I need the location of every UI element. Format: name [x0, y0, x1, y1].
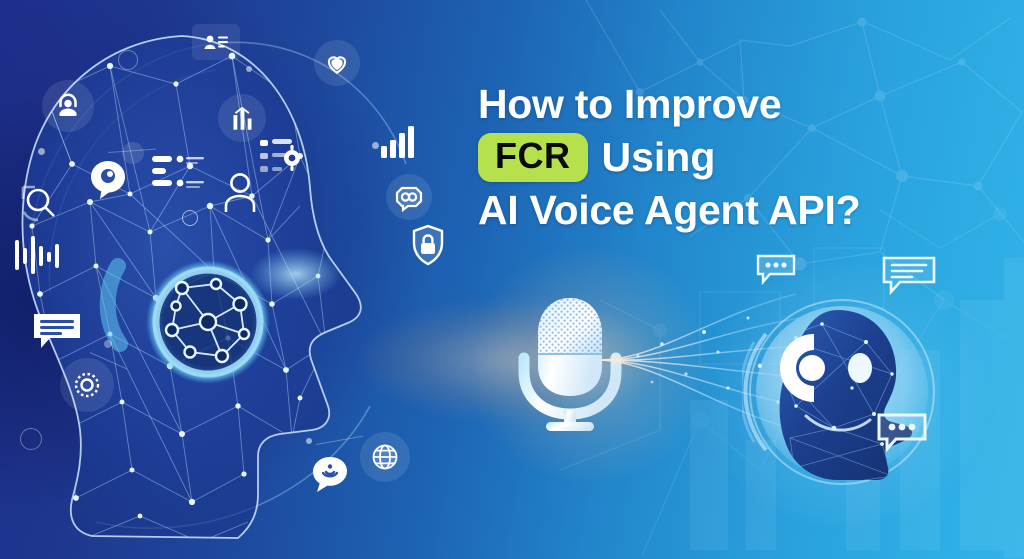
brain-network-node-circle	[146, 260, 270, 384]
headline-block: How to Improve FCR Using AI Voice Agent …	[478, 78, 998, 237]
chat-signal-icon	[308, 454, 352, 496]
gear-icon	[60, 358, 114, 412]
headline-line-1: How to Improve	[478, 78, 998, 131]
connector-dot	[122, 142, 144, 164]
workflow-settings-icon	[256, 136, 304, 180]
heart-shield-icon	[314, 40, 360, 86]
chat-dots-icon-large	[874, 410, 930, 458]
fcr-badge: FCR	[478, 133, 588, 182]
chat-location-icon	[86, 158, 130, 202]
growth-chart-icon	[218, 94, 266, 142]
waveform-bars-icon	[12, 234, 64, 278]
headline-line-3: AI Voice Agent API?	[478, 184, 998, 237]
connector-dot	[38, 148, 45, 155]
ai-robot-head-icon	[742, 288, 942, 488]
chat-lines-icon-right	[880, 254, 938, 300]
search-icon	[14, 178, 62, 226]
decorative-ring	[20, 428, 42, 450]
headline-line-2-text: Using	[602, 131, 716, 184]
infinity-chat-icon	[386, 174, 432, 220]
support-agent-icon	[42, 80, 94, 132]
shield-lock-icon	[406, 222, 450, 270]
id-card-icon	[192, 24, 240, 60]
decorative-ring	[118, 50, 138, 70]
connector-dot	[306, 438, 312, 444]
decorative-ring	[182, 210, 198, 226]
chat-dots-icon-small	[754, 252, 798, 288]
bar-chart-icon	[378, 122, 420, 162]
connector-dot	[104, 340, 112, 348]
user-profile-icon	[220, 170, 260, 214]
connector-dot	[246, 66, 252, 72]
connector-dot	[372, 142, 379, 149]
banner-root: How to Improve FCR Using AI Voice Agent …	[0, 0, 1024, 559]
headline-line-2: FCR Using	[478, 131, 998, 184]
task-list-icon	[150, 150, 208, 196]
chat-lines-icon	[30, 310, 84, 354]
globe-icon	[360, 432, 410, 482]
